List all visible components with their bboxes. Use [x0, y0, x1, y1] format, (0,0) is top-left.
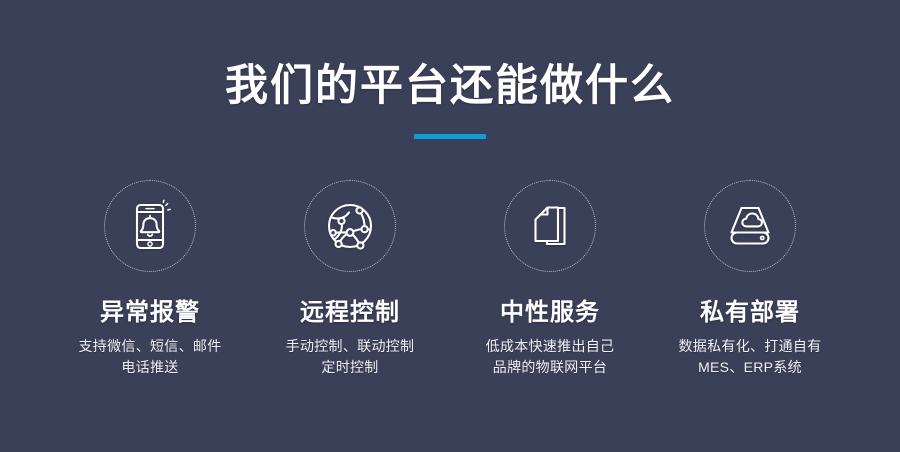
feature-list: 异常报警 支持微信、短信、邮件 电话推送 — [0, 180, 900, 378]
globe-network-icon — [323, 199, 377, 253]
feature-item-alarm[interactable]: 异常报警 支持微信、短信、邮件 电话推送 — [50, 180, 250, 378]
documents-stack-icon — [523, 199, 577, 253]
title-underline-accent — [414, 134, 486, 139]
feature-title: 私有部署 — [700, 298, 800, 328]
feature-desc-line: 手动控制、联动控制 — [286, 336, 415, 357]
icon-ring — [304, 180, 396, 272]
feature-desc-line: MES、ERP系统 — [679, 357, 822, 378]
feature-description: 数据私有化、打通自有 MES、ERP系统 — [679, 336, 822, 378]
feature-description: 支持微信、短信、邮件 电话推送 — [79, 336, 222, 378]
cloud-drive-icon — [723, 199, 777, 253]
promo-banner: 我们的平台还能做什么 — [0, 0, 900, 452]
page-title: 我们的平台还能做什么 — [0, 60, 900, 112]
feature-description: 手动控制、联动控制 定时控制 — [286, 336, 415, 378]
feature-description: 低成本快速推出自己 品牌的物联网平台 — [486, 336, 615, 378]
feature-title: 中性服务 — [500, 298, 600, 328]
feature-desc-line: 支持微信、短信、邮件 — [79, 336, 222, 357]
feature-desc-line: 数据私有化、打通自有 — [679, 336, 822, 357]
feature-desc-line: 定时控制 — [286, 357, 415, 378]
icon-ring — [104, 180, 196, 272]
icon-ring — [504, 180, 596, 272]
feature-desc-line: 品牌的物联网平台 — [486, 357, 615, 378]
icon-ring — [704, 180, 796, 272]
phone-bell-alarm-icon — [123, 199, 177, 253]
feature-desc-line: 低成本快速推出自己 — [486, 336, 615, 357]
feature-item-private-deployment[interactable]: 私有部署 数据私有化、打通自有 MES、ERP系统 — [650, 180, 850, 378]
feature-item-neutral-service[interactable]: 中性服务 低成本快速推出自己 品牌的物联网平台 — [450, 180, 650, 378]
feature-title: 远程控制 — [300, 298, 400, 328]
feature-title: 异常报警 — [100, 298, 200, 328]
feature-item-remote-control[interactable]: 远程控制 手动控制、联动控制 定时控制 — [250, 180, 450, 378]
feature-desc-line: 电话推送 — [79, 357, 222, 378]
header: 我们的平台还能做什么 — [0, 60, 900, 139]
